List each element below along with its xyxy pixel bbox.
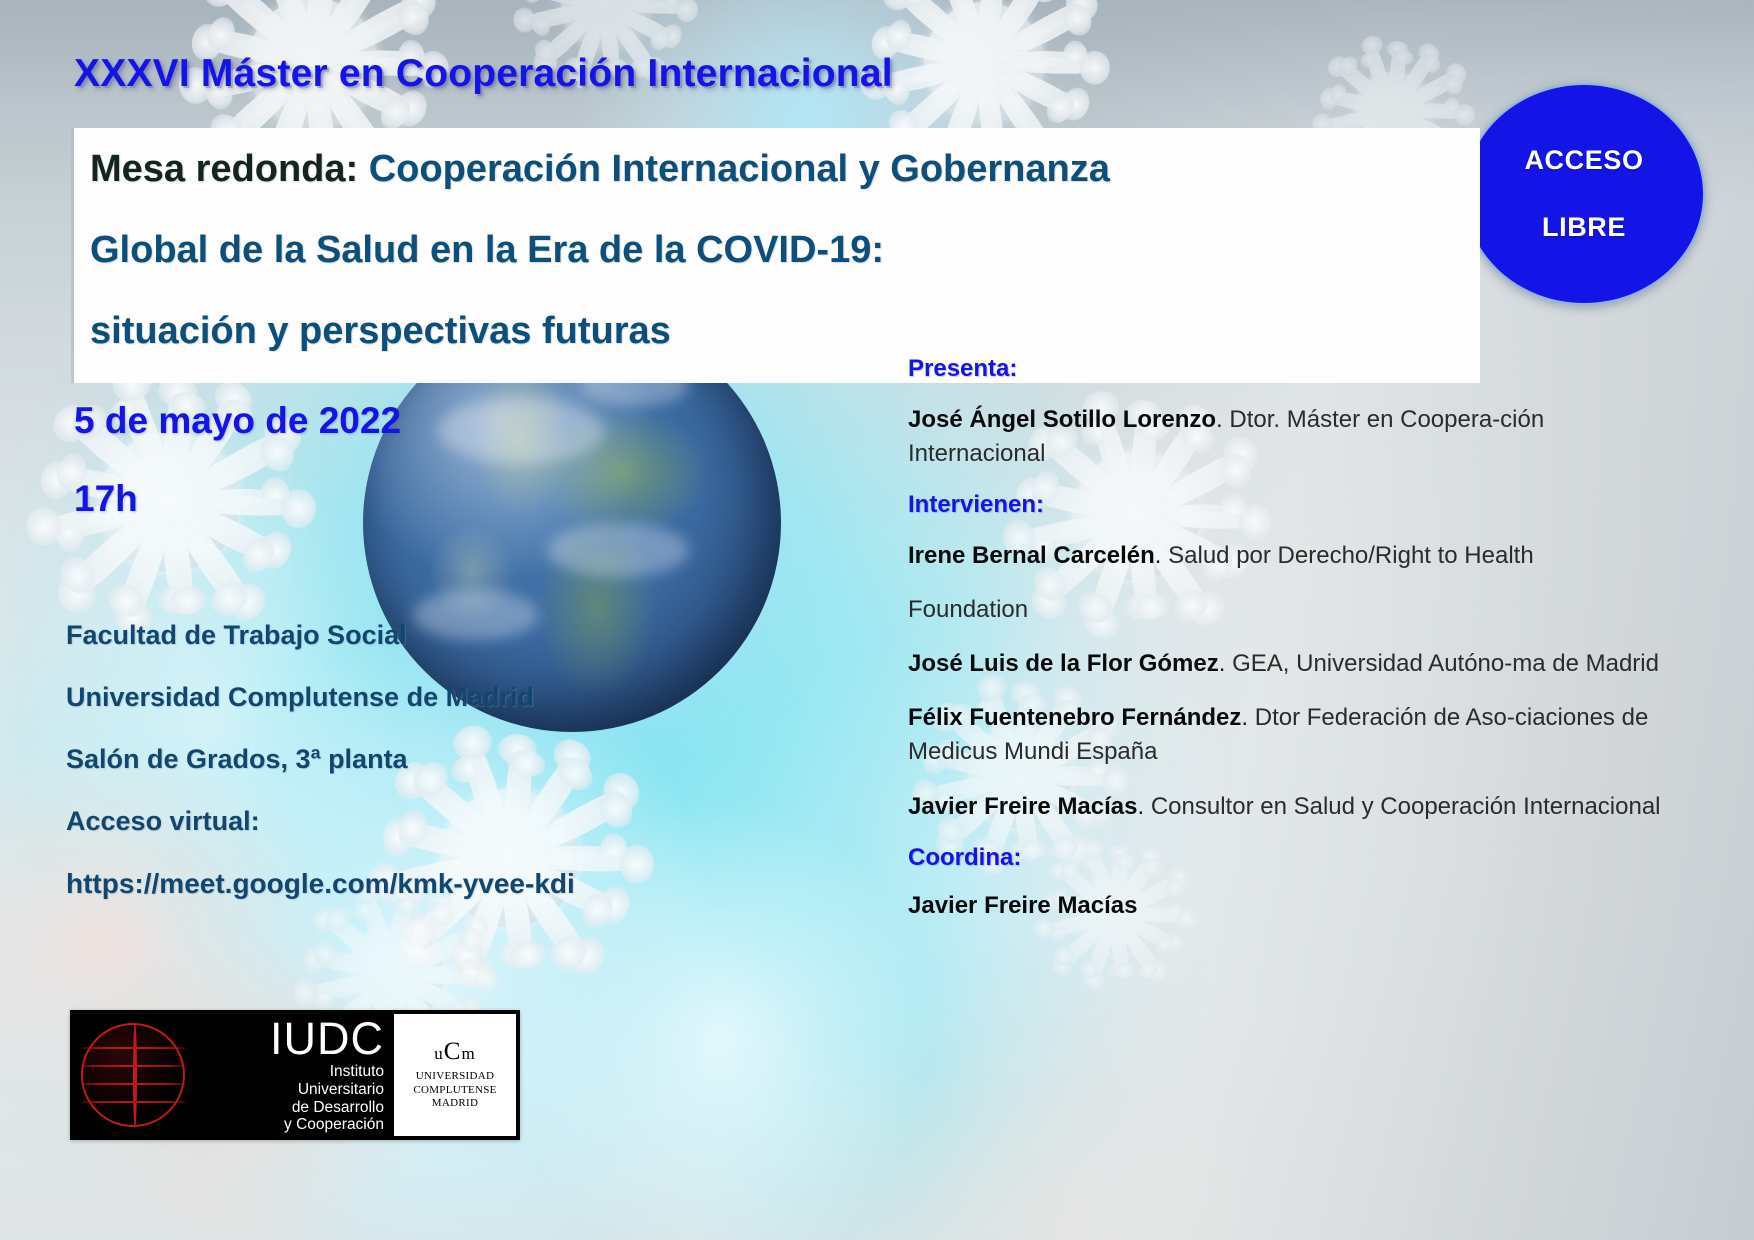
status-badge-free-access: ACCESO LIBRE bbox=[1463, 83, 1705, 305]
speaker-name: Javier Freire Macías bbox=[908, 793, 1138, 820]
speaker-separator: . bbox=[1241, 704, 1254, 731]
venue-university: Universidad Complutense de Madrid bbox=[66, 682, 826, 713]
speaker-entry: Félix Fuentenebro Fernández. Dtor Federa… bbox=[908, 701, 1670, 769]
iudc-ucm-logo: IUDC Instituto Universitario de Desarrol… bbox=[70, 1010, 520, 1140]
iudc-wordmark: IUDC Instituto Universitario de Desarrol… bbox=[196, 1010, 394, 1140]
speaker-entry: Javier Freire Macías. Consultor en Salud… bbox=[908, 790, 1670, 824]
badge-line-1: ACCESO bbox=[1524, 145, 1643, 176]
speaker-name: José Ángel Sotillo Lorenzo bbox=[908, 406, 1216, 433]
ucm-acronym-c: C bbox=[444, 1038, 462, 1065]
badge-line-2: LIBRE bbox=[1542, 212, 1626, 243]
iudc-acronym: IUDC bbox=[270, 1016, 384, 1061]
speaker-name: Félix Fuentenebro Fernández bbox=[908, 704, 1241, 731]
iudc-fullname-line-3: de Desarrollo bbox=[284, 1099, 384, 1117]
venue-room: Salón de Grados, 3ª planta bbox=[66, 744, 826, 775]
event-date: 5 de mayo de 2022 bbox=[74, 400, 401, 442]
ucm-fullname: UNIVERSIDAD COMPLUTENSE MADRID bbox=[413, 1070, 496, 1111]
ucm-fullname-line-2: COMPLUTENSE bbox=[413, 1084, 496, 1098]
ucm-acronym-m: m bbox=[461, 1044, 475, 1063]
speaker-affiliation: Foundation bbox=[908, 596, 1028, 623]
ucm-logo: uCm UNIVERSIDAD COMPLUTENSE MADRID bbox=[394, 1014, 516, 1136]
iudc-fullname-line-2: Universitario bbox=[284, 1081, 384, 1099]
iudc-fullname-line-4: y Cooperación bbox=[284, 1116, 384, 1134]
speaker-separator: . bbox=[1155, 542, 1168, 569]
session-title-line-1: Mesa redonda: Cooperación Internacional … bbox=[90, 148, 1110, 191]
intervienen-label: Intervienen: bbox=[908, 491, 1670, 519]
presenta-list: José Ángel Sotillo Lorenzo. Dtor. Máster… bbox=[908, 403, 1670, 471]
ucm-fullname-line-3: MADRID bbox=[413, 1097, 496, 1111]
speaker-entry: José Luis de la Flor Gómez. GEA, Univers… bbox=[908, 647, 1670, 681]
page-title: XXXVI Máster en Cooperación Internaciona… bbox=[74, 52, 893, 96]
speaker-separator: . bbox=[1138, 793, 1151, 820]
iudc-fullname: Instituto Universitario de Desarrollo y … bbox=[284, 1063, 384, 1135]
coordina-label: Coordina: bbox=[908, 844, 1670, 872]
speaker-affiliation: Consultor en Salud y Cooperación Interna… bbox=[1151, 793, 1661, 820]
speaker-entry: José Ángel Sotillo Lorenzo. Dtor. Máster… bbox=[908, 403, 1670, 471]
ucm-acronym: uCm bbox=[434, 1039, 475, 1064]
intervienen-list: Irene Bernal Carcelén. Salud por Derecho… bbox=[908, 539, 1670, 823]
session-title-line-2: Global de la Salud en la Era de la COVID… bbox=[90, 229, 884, 272]
presenta-label: Presenta: bbox=[908, 355, 1670, 383]
speaker-name: Irene Bernal Carcelén bbox=[908, 542, 1155, 569]
virtual-access-label: Acceso virtual: bbox=[66, 806, 826, 837]
venue-block: Facultad de Trabajo Social Universidad C… bbox=[66, 620, 826, 931]
session-title-line-3: situación y perspectivas futuras bbox=[90, 310, 671, 353]
speaker-affiliation: Salud por Derecho/Right to Health bbox=[1168, 542, 1534, 569]
poster-canvas: XXXVI Máster en Cooperación Internaciona… bbox=[0, 0, 1754, 1240]
speaker-separator: . bbox=[1216, 406, 1229, 433]
session-title-card: Mesa redonda: Cooperación Internacional … bbox=[74, 128, 1480, 383]
event-time: 17h bbox=[74, 478, 138, 520]
virtual-meeting-link[interactable]: https://meet.google.com/kmk-yvee-kdi bbox=[66, 868, 826, 900]
venue-faculty: Facultad de Trabajo Social bbox=[66, 620, 826, 651]
iudc-globe-icon bbox=[70, 1010, 196, 1140]
speaker-entry: Foundation bbox=[908, 593, 1670, 627]
ucm-fullname-line-1: UNIVERSIDAD bbox=[413, 1070, 496, 1084]
speakers-column: Presenta: José Ángel Sotillo Lorenzo. Dt… bbox=[908, 355, 1670, 920]
ucm-acronym-u: u bbox=[434, 1044, 444, 1063]
speaker-separator: . bbox=[1219, 650, 1232, 677]
speaker-name: José Luis de la Flor Gómez bbox=[908, 650, 1219, 677]
session-title-part-1: Cooperación Internacional y Gobernanza bbox=[358, 148, 1110, 190]
iudc-fullname-line-1: Instituto bbox=[284, 1063, 384, 1081]
session-type-label: Mesa redonda: bbox=[90, 148, 358, 190]
speaker-affiliation: GEA, Universidad Autóno-ma de Madrid bbox=[1232, 650, 1659, 677]
speaker-entry: Irene Bernal Carcelén. Salud por Derecho… bbox=[908, 539, 1670, 573]
coordina-name: Javier Freire Macías bbox=[908, 892, 1670, 920]
